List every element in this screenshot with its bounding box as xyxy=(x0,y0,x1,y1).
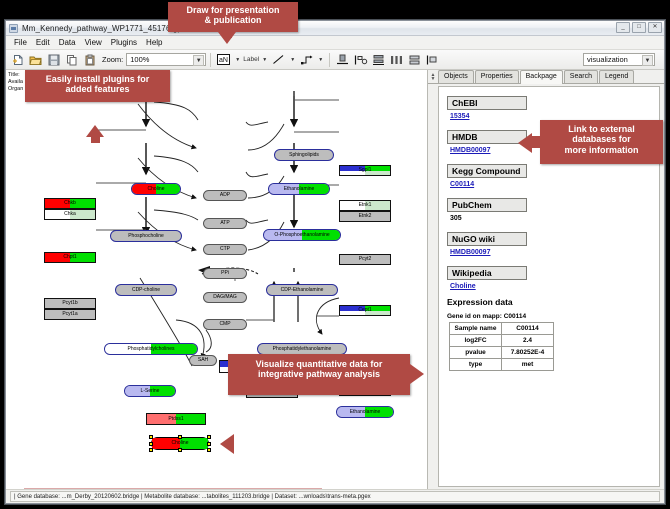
title-bar: Mm_Kennedy_pathway_WP1771_45176.gpml _ □… xyxy=(6,21,664,36)
link-callout-arrow xyxy=(518,133,532,153)
canvas-info-labels: Title: Availa Organ xyxy=(8,72,23,93)
zoom-value: 100% xyxy=(130,55,149,64)
node-label: CMP xyxy=(219,322,230,327)
chevron-down-icon-2[interactable]: ▼ xyxy=(642,55,653,66)
exp-key-sample-name: Sample name xyxy=(450,323,502,335)
table-row: Sample name C00114 xyxy=(450,323,554,335)
visualization-combo[interactable]: visualization ▼ xyxy=(583,53,655,66)
db-header-chebi: ChEBI xyxy=(447,96,527,110)
viz-callout-arrow-right xyxy=(410,364,424,384)
metabolite-node-choline-selected[interactable]: Choline xyxy=(151,437,209,450)
node-label: CTP xyxy=(220,247,230,252)
selection-handle-4[interactable] xyxy=(207,442,211,446)
tab-scroll-icon[interactable]: ▲▼ xyxy=(430,71,436,83)
save-icon[interactable] xyxy=(45,51,62,68)
gene-node-cept1[interactable]: Cept1 xyxy=(339,305,391,316)
db-header-kegg: Kegg Compound xyxy=(447,164,527,178)
node-label: Chka xyxy=(64,212,76,217)
zoom-label: Zoom: xyxy=(102,55,123,64)
table-row: pvalue 7.80252E-4 xyxy=(450,347,554,359)
node-label: ADP xyxy=(220,193,230,198)
menu-view[interactable]: View xyxy=(81,37,107,48)
callout-link-line3: more information xyxy=(543,145,660,155)
selection-handle-7[interactable] xyxy=(207,448,211,452)
db-link-kegg[interactable]: C00114 xyxy=(450,181,651,188)
chevron-down-icon[interactable]: ▼ xyxy=(193,55,204,66)
selection-handle-6[interactable] xyxy=(178,448,182,452)
node-label: CDP-choline xyxy=(132,288,160,293)
node-label: Phosphatidylcholines xyxy=(128,347,175,352)
window-title: Mm_Kennedy_pathway_WP1771_45176.gpml xyxy=(22,24,191,33)
node-label: Etnk1 xyxy=(359,203,372,208)
tab-legend[interactable]: Legend xyxy=(599,70,634,83)
callout-link-line2: databases for xyxy=(543,134,660,144)
node-label: DAG/MAG xyxy=(213,295,237,300)
node-label: PPi xyxy=(221,271,229,276)
metabolite-node-cmp[interactable]: CMP xyxy=(203,319,247,330)
metabolite-node-dagmag[interactable]: DAG/MAG xyxy=(203,292,247,303)
node-label: Cept1 xyxy=(358,308,371,313)
node-label: Choline xyxy=(148,187,165,192)
db-header-pubchem: PubChem xyxy=(447,198,527,212)
menu-plugins[interactable]: Plugins xyxy=(107,37,142,48)
toolbar-separator-2 xyxy=(329,53,330,67)
callout-plugins: Easily install plugins for added feature… xyxy=(25,70,170,102)
stack-vertical-icon[interactable] xyxy=(370,51,387,68)
copy-icon[interactable] xyxy=(63,51,80,68)
node-label: Chpt1 xyxy=(63,255,76,260)
db-header-hmdb: HMDB xyxy=(447,130,527,144)
node-label: L-Serine xyxy=(141,389,160,394)
callout-viz-line1: Visualize quantitative data for xyxy=(234,359,404,369)
metabolite-node-cdp-choline[interactable]: CDP-choline xyxy=(115,284,177,296)
maximize-button[interactable]: □ xyxy=(632,22,646,33)
metabolite-node-phosphatidylcholines[interactable]: Phosphatidylcholines xyxy=(104,343,198,355)
gene-node-pcyt1b[interactable]: Pcyt1b xyxy=(44,298,96,309)
metabolite-node-ophosphoethanolamine[interactable]: O-Phosphoethanolamine xyxy=(263,229,341,241)
common-width-icon[interactable] xyxy=(406,51,423,68)
gene-id-on-mapp: Gene id on mapp: C00114 xyxy=(447,313,651,320)
tab-objects[interactable]: Objects xyxy=(438,70,474,83)
node-label: CDP-Ethanolamine xyxy=(281,288,324,293)
window-controls: _ □ ✕ xyxy=(616,22,662,33)
callout-plugins-line2: added features xyxy=(29,84,166,94)
node-label: SAH xyxy=(198,358,208,363)
exp-key-log2fc: log2FC xyxy=(450,335,502,347)
selection-handle-2[interactable] xyxy=(207,435,211,439)
callout-draw: Draw for presentation & publication xyxy=(168,2,298,32)
metabolite-node-lserine-left[interactable]: L-Serine xyxy=(124,385,176,397)
align-bottom-icon[interactable] xyxy=(334,51,351,68)
metabolite-node-cdp-ethanolamine[interactable]: CDP-Ethanolamine xyxy=(266,284,338,296)
line-dropdown[interactable]: ▼ xyxy=(288,52,297,67)
tab-backpage[interactable]: Backpage xyxy=(520,70,563,84)
callout-plugins-line1: Easily install plugins for xyxy=(29,74,166,84)
svg-text:aN: aN xyxy=(219,57,228,64)
label-dropdown[interactable]: ▼ xyxy=(260,52,269,67)
align-left-icon[interactable] xyxy=(352,51,369,68)
connector-dropdown[interactable]: ▼ xyxy=(316,52,325,67)
node-label: Pcyt1b xyxy=(62,301,77,306)
node-label: Ethanolamine xyxy=(350,410,381,415)
exp-val-type: met xyxy=(502,359,554,371)
menu-help[interactable]: Help xyxy=(142,37,167,48)
menu-data[interactable]: Data xyxy=(55,37,81,48)
node-label: Sgpl1 xyxy=(359,168,372,173)
db-link-nugo[interactable]: HMDB00097 xyxy=(450,249,651,256)
exp-key-type: type xyxy=(450,359,502,371)
menu-bar: File Edit Data View Plugins Help xyxy=(6,36,664,50)
viz-callout-arrow-left xyxy=(220,434,234,454)
metabolite-node-ppi[interactable]: PPi xyxy=(203,268,247,279)
node-label: O-Phosphoethanolamine xyxy=(274,233,329,238)
callout-viz: Visualize quantitative data for integrat… xyxy=(228,354,410,395)
selection-handle-3[interactable] xyxy=(149,442,153,446)
node-label: Sphingolipids xyxy=(289,153,319,158)
toolbar-separator-1 xyxy=(210,53,211,67)
selection-handle-0[interactable] xyxy=(149,435,153,439)
exp-val-sample-name: C00114 xyxy=(502,323,554,335)
gene-node-etnk1[interactable]: Etnk1 xyxy=(339,200,391,211)
label-tool-label[interactable]: Label xyxy=(243,56,259,63)
node-label: ATP xyxy=(220,221,229,226)
open-folder-icon[interactable] xyxy=(27,51,44,68)
metabolite-node-phosphocholine[interactable]: Phosphocholine xyxy=(110,230,182,242)
selection-handle-5[interactable] xyxy=(149,448,153,452)
distribute-icon[interactable] xyxy=(388,51,405,68)
callout-draw-line2: & publication xyxy=(172,15,294,25)
toolbar: Zoom: 100% ▼ aN ▼ Label ▼ ▼ ▼ xyxy=(6,50,664,70)
metabolite-node-sah[interactable]: SAH xyxy=(189,355,217,366)
datanode-dropdown[interactable]: ▼ xyxy=(233,52,242,67)
gene-node-sgpl1[interactable]: Sgpl1 xyxy=(339,165,391,176)
metabolite-node-ctp[interactable]: CTP xyxy=(203,244,247,255)
paste-icon[interactable] xyxy=(81,51,98,68)
node-label: Pcyt1a xyxy=(62,312,77,317)
pathway-edges xyxy=(6,70,428,489)
node-label: Ethanolamine xyxy=(284,187,315,192)
gene-node-ptdss1[interactable]: Ptdss1 xyxy=(146,413,206,425)
gene-node-pcyt1a[interactable]: Pcyt1a xyxy=(44,309,96,320)
tab-search[interactable]: Search xyxy=(564,70,598,83)
callout-link: Link to external databases for more info… xyxy=(540,120,663,164)
expression-table: Sample name C00114 log2FC 2.4 pvalue 7.8… xyxy=(449,322,554,371)
node-label: Etnk2 xyxy=(359,214,372,219)
draw-callout-arrow xyxy=(218,32,236,44)
gene-node-chka[interactable]: Chka xyxy=(44,209,96,220)
status-text: | Gene database: ...m_Derby_20120602.bri… xyxy=(10,491,660,502)
canvas-info-organism: Organ xyxy=(8,86,23,93)
db-value-pubchem: 305 xyxy=(450,215,651,222)
menu-file[interactable]: File xyxy=(10,37,32,48)
zoom-combo[interactable]: 100% ▼ xyxy=(126,53,206,66)
exp-val-log2fc: 2.4 xyxy=(502,335,554,347)
exp-key-pvalue: pvalue xyxy=(450,347,502,359)
menu-edit[interactable]: Edit xyxy=(32,37,55,48)
plugins-callout-stem xyxy=(91,135,100,143)
canvas-info-availability: Availa xyxy=(8,79,23,86)
selection-handle-1[interactable] xyxy=(178,435,182,439)
app-icon xyxy=(9,24,18,33)
db-header-nugo: NuGO wiki xyxy=(447,232,527,246)
callout-link-line1: Link to external xyxy=(543,124,660,134)
z-order-icon[interactable] xyxy=(424,51,441,68)
metabolite-node-ethanolamine1[interactable]: Ethanolamine xyxy=(268,183,330,195)
tab-properties[interactable]: Properties xyxy=(475,70,519,83)
metabolite-node-ethanolamine2[interactable]: Ethanolamine xyxy=(336,406,394,418)
visualization-value: visualization xyxy=(587,55,628,64)
metabolite-node-adp[interactable]: ADP xyxy=(203,190,247,201)
gene-node-pcyt2[interactable]: Pcyt2 xyxy=(339,254,391,265)
pathway-canvas[interactable]: Title: Availa Organ xyxy=(6,70,428,489)
share-banner: Share on Wikipathways.org xyxy=(24,488,322,489)
metabolite-node-atp[interactable]: ATP xyxy=(203,218,247,229)
node-label: Phosphatidylethanolamine xyxy=(273,347,332,352)
close-button[interactable]: ✕ xyxy=(648,22,662,33)
side-panel-tabs: ▲▼ Objects Properties Backpage Search Le… xyxy=(428,70,664,84)
callout-draw-line1: Draw for presentation xyxy=(172,5,294,15)
table-row: log2FC 2.4 xyxy=(450,335,554,347)
metabolite-node-choline-top[interactable]: Choline xyxy=(131,183,181,195)
new-file-icon[interactable] xyxy=(9,51,26,68)
arrow-connector-icon[interactable] xyxy=(298,51,315,68)
table-row: type met xyxy=(450,359,554,371)
datanode-icon[interactable]: aN xyxy=(215,51,232,68)
db-header-wikipedia: Wikipedia xyxy=(447,266,527,280)
gene-node-chpt1[interactable]: Chpt1 xyxy=(44,252,96,263)
node-label: Chkb xyxy=(64,201,76,206)
gene-node-etnk2[interactable]: Etnk2 xyxy=(339,211,391,222)
gene-node-chkb[interactable]: Chkb xyxy=(44,198,96,209)
node-label: Choline xyxy=(172,441,189,446)
expression-data-title: Expression data xyxy=(447,297,651,307)
metabolite-node-sphingolipids[interactable]: Sphingolipids xyxy=(274,149,334,161)
exp-val-pvalue: 7.80252E-4 xyxy=(502,347,554,359)
callout-viz-line2: integrative pathway analysis xyxy=(234,369,404,379)
db-link-chebi[interactable]: 15354 xyxy=(450,113,651,120)
line-icon[interactable] xyxy=(270,51,287,68)
node-label: Phosphocholine xyxy=(128,234,164,239)
canvas-info-title: Title: xyxy=(8,72,23,79)
node-label: Ptdss1 xyxy=(168,417,183,422)
db-link-wikipedia[interactable]: Choline xyxy=(450,283,651,290)
node-label: Pcyt2 xyxy=(359,257,372,262)
status-bar: | Gene database: ...m_Derby_20120602.bri… xyxy=(6,489,664,503)
minimize-button[interactable]: _ xyxy=(616,22,630,33)
